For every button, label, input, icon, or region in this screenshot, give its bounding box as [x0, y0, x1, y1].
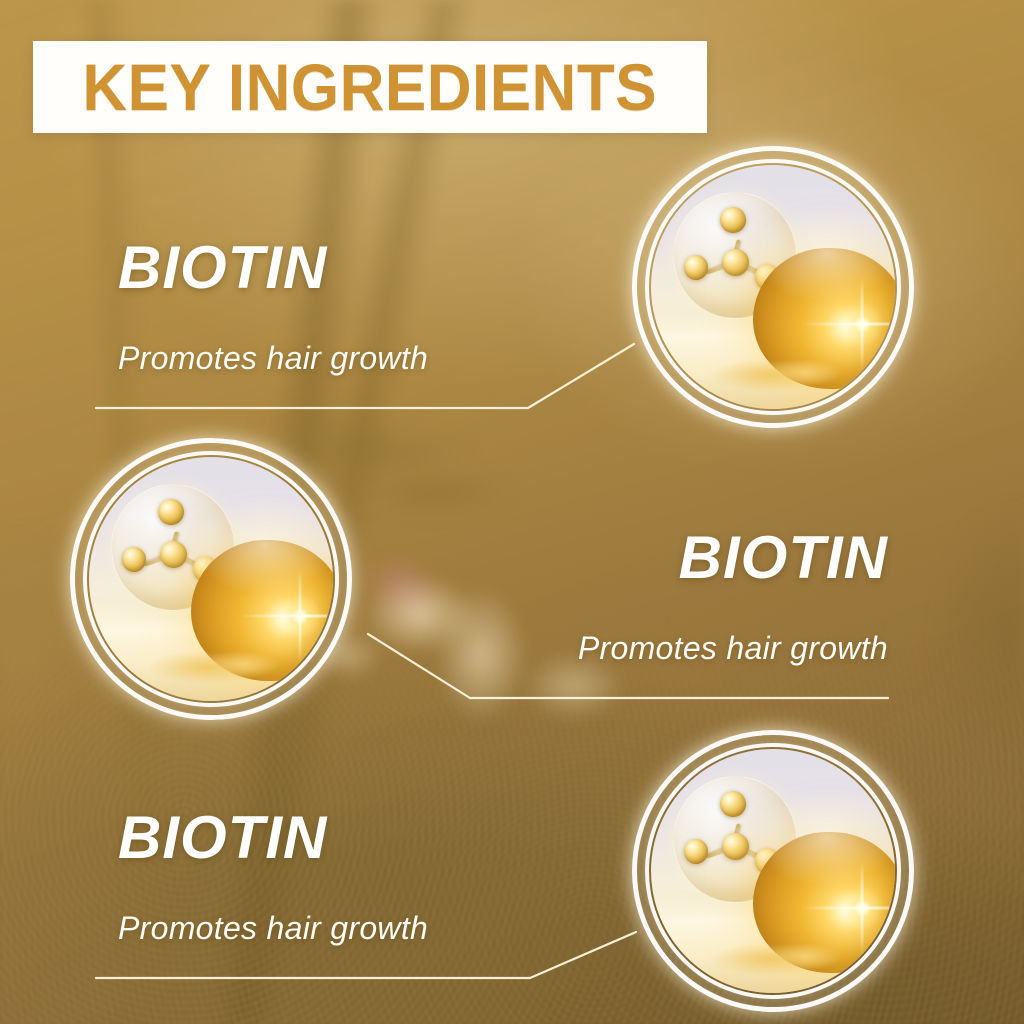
page-title: KEY INGREDIENTS — [83, 54, 658, 120]
ingredient-block-1: BIOTIN Promotes hair growth — [118, 238, 428, 374]
key-ingredients-infographic: KEY INGREDIENTS BIOTIN Promotes hair gro… — [0, 0, 1024, 1024]
ingredient-name-3: BIOTIN — [118, 808, 428, 868]
circle-outer-ring — [632, 730, 914, 1012]
ingredient-image-1 — [632, 146, 914, 428]
ingredient-name-1: BIOTIN — [118, 238, 428, 298]
ingredient-block-2: BIOTIN Promotes hair growth — [578, 528, 888, 664]
ingredient-block-3: BIOTIN Promotes hair growth — [118, 808, 428, 944]
ingredient-image-3 — [632, 730, 914, 1012]
circle-outer-ring — [70, 438, 352, 720]
ingredient-description-1: Promotes hair growth — [118, 342, 428, 374]
ingredient-description-3: Promotes hair growth — [118, 912, 428, 944]
title-banner: KEY INGREDIENTS — [33, 41, 707, 133]
ingredient-name-2: BIOTIN — [578, 528, 888, 588]
circle-outer-ring — [632, 146, 914, 428]
ingredient-image-2 — [70, 438, 352, 720]
ingredient-description-2: Promotes hair growth — [578, 632, 888, 664]
